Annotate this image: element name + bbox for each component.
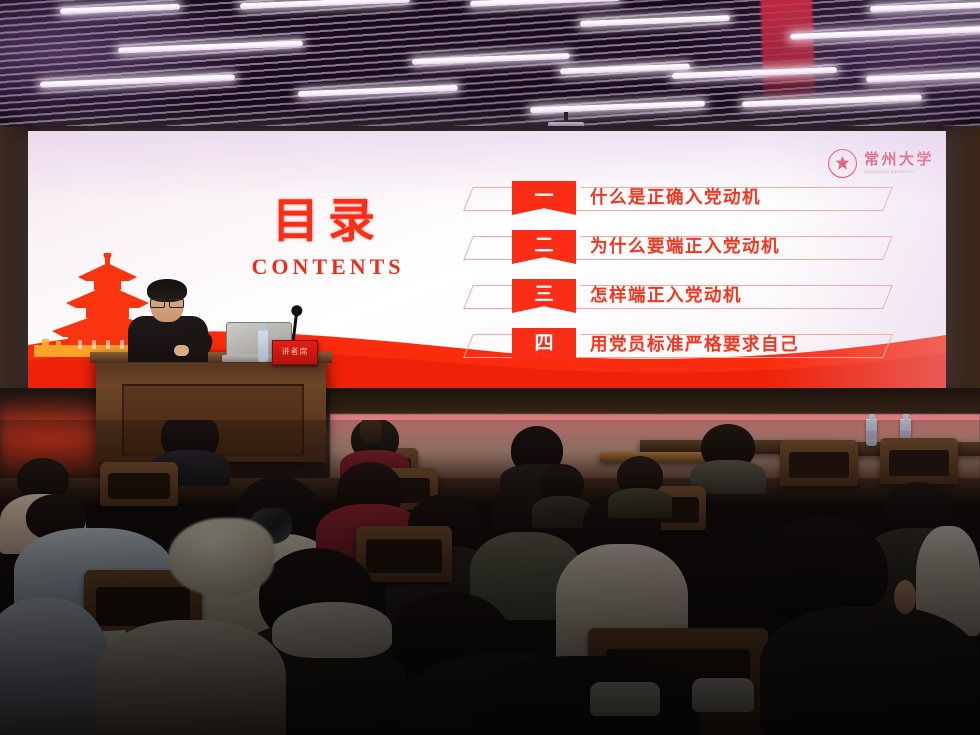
item-number-badge: 二 xyxy=(512,230,576,264)
item-label: 什么是正确入党动机 xyxy=(590,184,761,209)
glasses-icon xyxy=(790,572,846,587)
item-number: 二 xyxy=(534,236,553,255)
nameplate: 讲者席 xyxy=(272,340,318,365)
item-label: 为什么要端正入党动机 xyxy=(590,233,780,258)
audience-person xyxy=(0,578,110,735)
page-subtitle: CONTENTS xyxy=(218,254,438,280)
audience-person xyxy=(690,424,766,494)
item-label: 用党员标准严格要求自己 xyxy=(590,331,799,356)
slide-title-block: 目录 CONTENTS xyxy=(218,199,438,280)
audience-person xyxy=(358,420,384,448)
audience-person xyxy=(608,456,672,518)
item-number: 三 xyxy=(534,285,553,304)
item-number-badge: 一 xyxy=(512,181,576,215)
audience-person xyxy=(470,652,700,735)
item-label: 怎样端正入党动机 xyxy=(590,282,742,307)
fur-collar xyxy=(168,518,274,596)
ceiling-light-haze-left xyxy=(0,0,270,128)
item-number-badge: 三 xyxy=(512,279,576,313)
audience-person xyxy=(96,616,286,735)
scarf xyxy=(272,602,392,658)
gloves-on-desk xyxy=(692,678,754,712)
audience xyxy=(0,420,980,735)
water-bottle xyxy=(258,330,268,362)
item-number-badge: 四 xyxy=(512,328,576,362)
glasses-icon xyxy=(150,299,184,306)
presenter xyxy=(122,282,214,360)
item-number: 四 xyxy=(534,334,553,353)
lecture-hall-photo: 目录 CONTENTS 一 什么是正确入党动机 二 为什么要端正入党动机 xyxy=(0,0,980,735)
ear xyxy=(894,580,916,614)
gloves-on-desk xyxy=(590,682,660,716)
audience-person xyxy=(760,516,980,735)
ceiling xyxy=(0,0,980,128)
page-title: 目录 xyxy=(218,199,438,246)
item-number: 一 xyxy=(534,187,553,206)
nameplate-label: 讲者席 xyxy=(273,346,317,357)
